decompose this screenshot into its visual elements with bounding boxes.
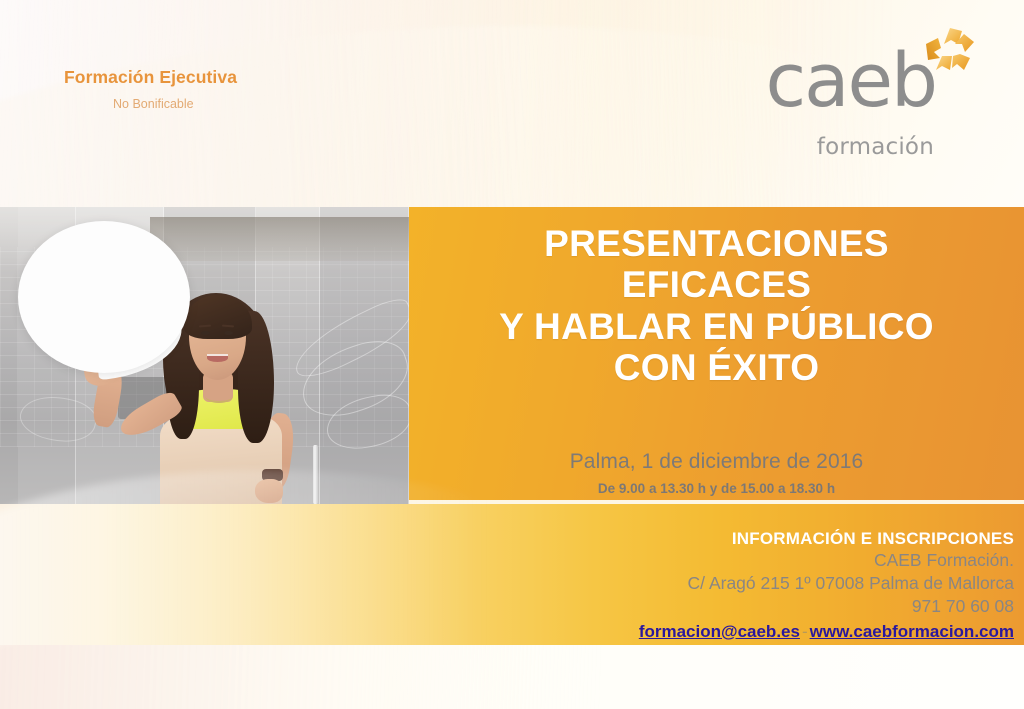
footer-area xyxy=(0,645,1024,709)
course-title: PRESENTACIONES EFICACES Y HABLAR EN PÚBL… xyxy=(409,223,1024,389)
course-schedule: De 9.00 a 13.30 h y de 15.00 a 18.30 h xyxy=(409,481,1024,496)
course-title-panel: PRESENTACIONES EFICACES Y HABLAR EN PÚBL… xyxy=(409,207,1024,504)
contact-website-link[interactable]: www.caebformacion.com xyxy=(810,622,1014,641)
woman-necklace xyxy=(205,389,233,403)
photo-pole xyxy=(313,445,318,504)
course-flyer: Formación Ejecutiva No Bonificable xyxy=(0,0,1024,709)
course-title-line-1: PRESENTACIONES xyxy=(409,223,1024,264)
caeb-tagline: formación xyxy=(817,136,934,159)
woman-eye xyxy=(201,331,210,335)
photo-ceiling xyxy=(150,217,409,261)
caeb-wordmark: caeb xyxy=(765,44,936,118)
contact-phone: 971 70 60 08 xyxy=(454,595,1014,618)
woman-smile xyxy=(207,354,228,362)
program-subkicker: No Bonificable xyxy=(113,98,484,112)
contact-organization: CAEB Formación. xyxy=(454,549,1014,572)
contact-links: formacion@caeb.es-www.caebformacion.com xyxy=(454,621,1014,643)
contact-address: C/ Aragó 215 1º 07008 Palma de Mallorca xyxy=(454,572,1014,595)
speech-bubble-notch xyxy=(74,311,184,385)
course-date: Palma, 1 de diciembre de 2016 xyxy=(409,450,1024,474)
program-kicker: Formación Ejecutiva xyxy=(64,68,484,87)
course-title-line-3: Y HABLAR EN PÚBLICO xyxy=(409,306,1024,347)
footer-swoosh xyxy=(0,645,760,709)
course-title-line-2: EFICACES xyxy=(409,264,1024,305)
caeb-logo: caeb formación xyxy=(748,18,988,166)
contact-heading: INFORMACIÓN E INSCRIPCIONES xyxy=(454,528,1014,549)
woman-right-hand xyxy=(255,479,283,503)
woman-holding-speech-bubble-photo xyxy=(0,207,409,504)
contact-link-separator: - xyxy=(800,622,810,641)
contact-block: INFORMACIÓN E INSCRIPCIONES CAEB Formaci… xyxy=(454,528,1014,643)
header-text-block: Formación Ejecutiva No Bonificable xyxy=(64,68,484,112)
woman-eye xyxy=(224,331,233,335)
course-title-line-4: CON ÉXITO xyxy=(409,347,1024,388)
contact-email-link[interactable]: formacion@caeb.es xyxy=(639,622,800,641)
